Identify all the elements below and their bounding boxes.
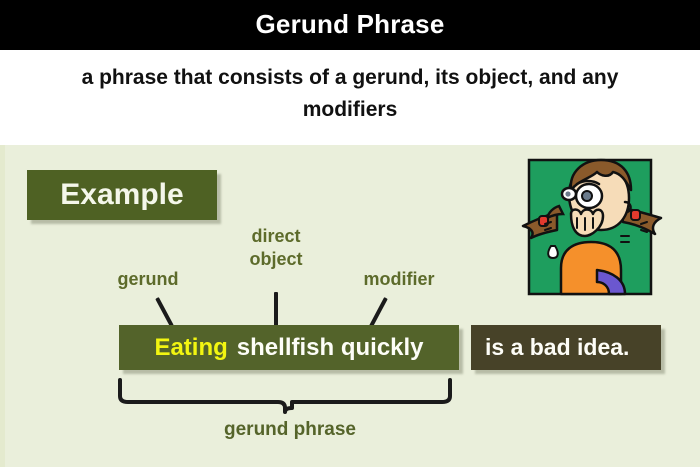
disgusted-girl-cartoon-icon [513, 150, 673, 305]
page-title: Gerund Phrase [0, 8, 700, 40]
title-bar: Gerund Phrase [0, 0, 700, 50]
panel-left-edge [0, 145, 5, 467]
infographic-page: Gerund Phrase a phrase that consists of … [0, 0, 700, 467]
example-badge: Example [27, 170, 217, 220]
callout-label-modifier: modifier [344, 268, 454, 291]
leader-line-direct-object [274, 292, 278, 328]
predicate-box: is a bad idea. [471, 325, 661, 370]
definition-text: a phrase that consists of a gerund, its … [35, 62, 665, 126]
callout-label-gerund: gerund [98, 268, 198, 291]
gerund-phrase-box: Eating shellfish quickly [119, 325, 459, 370]
predicate-text: is a bad idea. [471, 334, 629, 361]
gerund-word: Eating [154, 334, 236, 362]
callout-label-direct-object: direct object [226, 225, 326, 271]
gerund-phrase-bracket [110, 378, 470, 414]
object-and-modifier-text: shellfish quickly [237, 334, 424, 362]
example-badge-label: Example [27, 177, 217, 213]
bracket-label: gerund phrase [110, 418, 470, 442]
definition-band: a phrase that consists of a gerund, its … [0, 50, 700, 145]
